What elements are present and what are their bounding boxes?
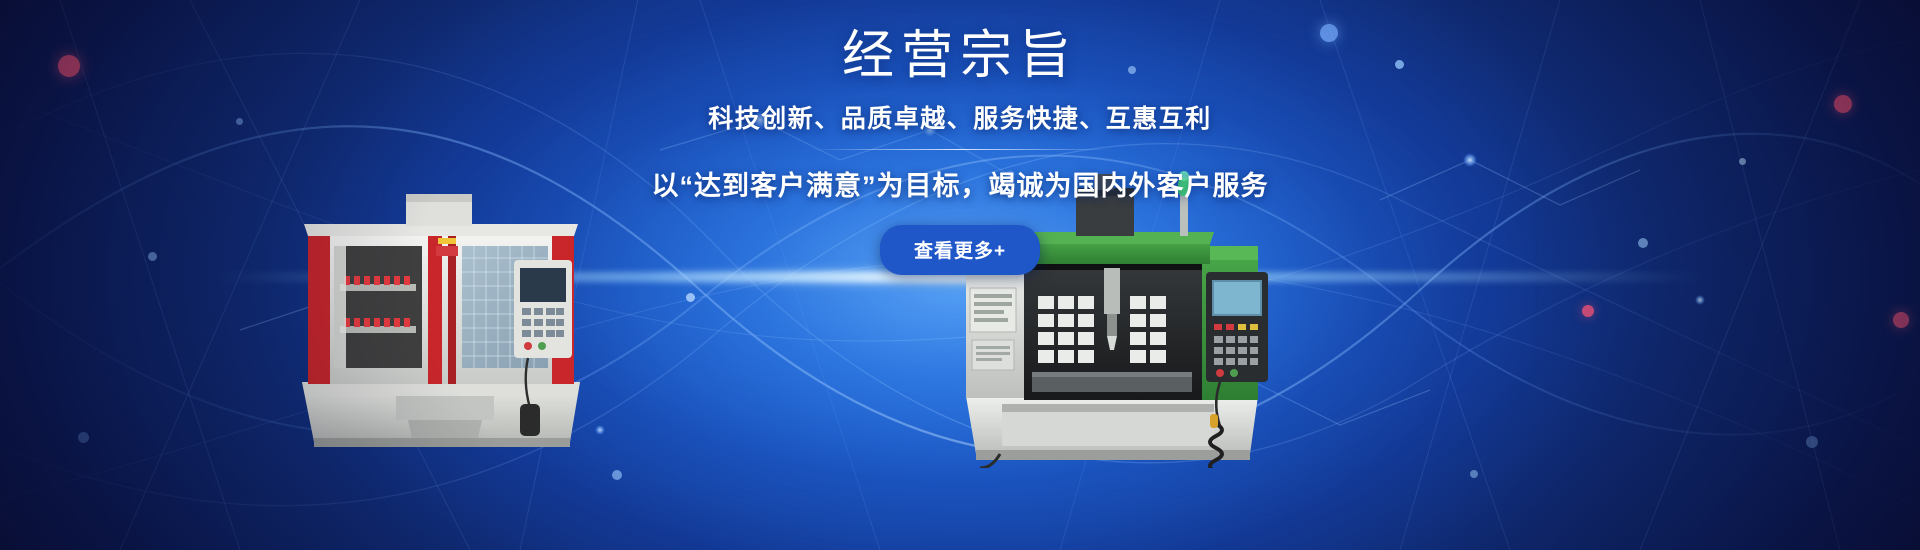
banner-subtitle: 科技创新、品质卓越、服务快捷、互惠互利 [510,99,1410,135]
divider [810,149,1110,150]
page-title: 经营宗旨 [510,26,1410,87]
view-more-button[interactable]: 查看更多+ [880,225,1040,275]
banner-content: 经营宗旨 科技创新、品质卓越、服务快捷、互惠互利 以“达到客户满意”为目标，竭诚… [0,0,1920,550]
headline-block: 经营宗旨 科技创新、品质卓越、服务快捷、互惠互利 以“达到客户满意”为目标，竭诚… [510,26,1410,275]
company-philosophy-banner: 经营宗旨 科技创新、品质卓越、服务快捷、互惠互利 以“达到客户满意”为目标，竭诚… [0,0,1920,550]
banner-tagline: 以“达到客户满意”为目标，竭诚为国内外客户服务 [510,164,1410,203]
